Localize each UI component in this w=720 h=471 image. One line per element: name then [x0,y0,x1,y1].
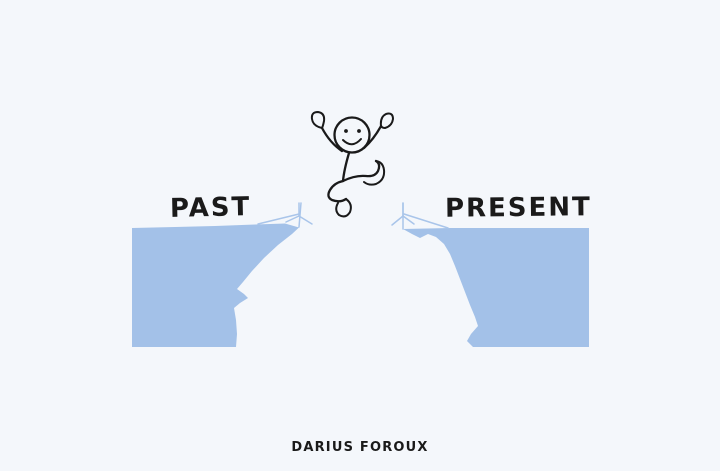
figure-leg-left [328,181,346,201]
cliff-marker-right-icon [392,203,448,229]
figure-arm-left [322,128,342,151]
illustration-canvas: PAST PRESENT DARIUS FOROUX [0,0,720,471]
figure-hand-right [381,114,393,128]
figure-torso [343,153,349,181]
past-cliff-shape [132,224,299,348]
figure-leg-right [343,161,379,181]
figure-eye-left [344,129,348,133]
scene-drawing [0,0,720,471]
figure-hand-left [312,112,324,128]
figure-arm-right [364,126,381,148]
label-past: PAST [170,192,252,224]
present-cliff-shape [403,228,589,347]
cliff-marker-left-icon [258,203,312,227]
jumping-stick-figure [312,112,393,216]
artist-signature: DARIUS FOROUX [0,440,720,455]
figure-eye-right [357,129,361,133]
figure-foot-right [364,161,384,185]
figure-smile [343,139,361,144]
label-present: PRESENT [445,192,592,224]
